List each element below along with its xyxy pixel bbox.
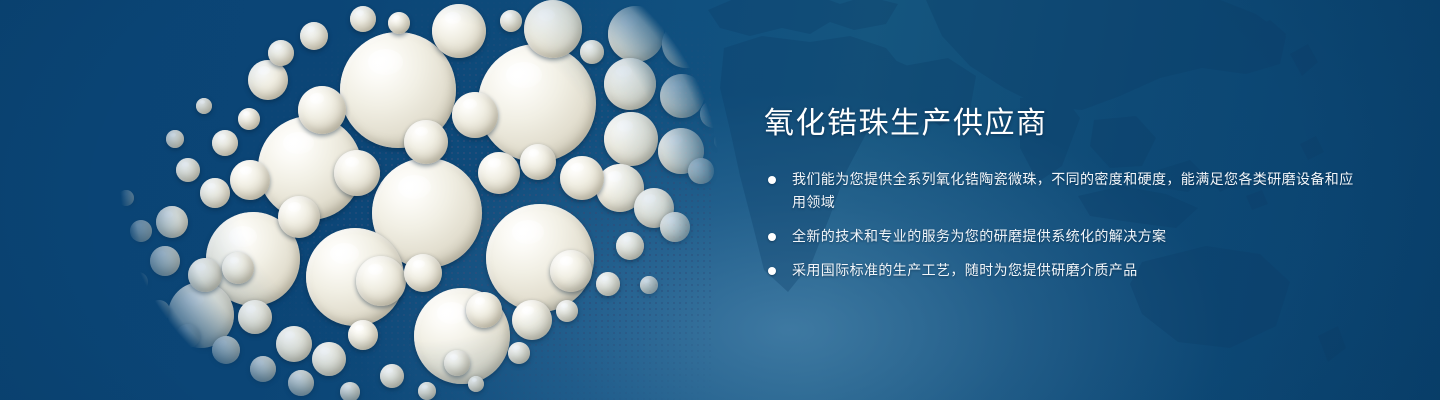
list-item-label: 采用国际标准的生产工艺，随时为您提供研磨介质产品 xyxy=(792,259,1364,282)
zirconia-beads-hero-banner: 氧化锆珠生产供应商 我们能为您提供全系列氧化锆陶瓷微珠，不同的密度和硬度，能满足… xyxy=(0,0,1440,400)
bullet-dot-icon xyxy=(768,267,776,275)
list-item: 我们能为您提供全系列氧化锆陶瓷微珠，不同的密度和硬度，能满足您各类研磨设备和应用… xyxy=(764,168,1364,214)
list-item: 全新的技术和专业的服务为您的研磨提供系统化的解决方案 xyxy=(764,225,1364,248)
bullet-dot-icon xyxy=(768,176,776,184)
banner-feature-list: 我们能为您提供全系列氧化锆陶瓷微珠，不同的密度和硬度，能满足您各类研磨设备和应用… xyxy=(764,168,1364,282)
list-item-label: 我们能为您提供全系列氧化锆陶瓷微珠，不同的密度和硬度，能满足您各类研磨设备和应用… xyxy=(792,168,1364,214)
list-item: 采用国际标准的生产工艺，随时为您提供研磨介质产品 xyxy=(764,259,1364,282)
bullet-dot-icon xyxy=(768,233,776,241)
banner-copy-block: 氧化锆珠生产供应商 我们能为您提供全系列氧化锆陶瓷微珠，不同的密度和硬度，能满足… xyxy=(764,104,1364,282)
list-item-label: 全新的技术和专业的服务为您的研磨提供系统化的解决方案 xyxy=(792,225,1364,248)
banner-headline: 氧化锆珠生产供应商 xyxy=(764,104,1364,144)
